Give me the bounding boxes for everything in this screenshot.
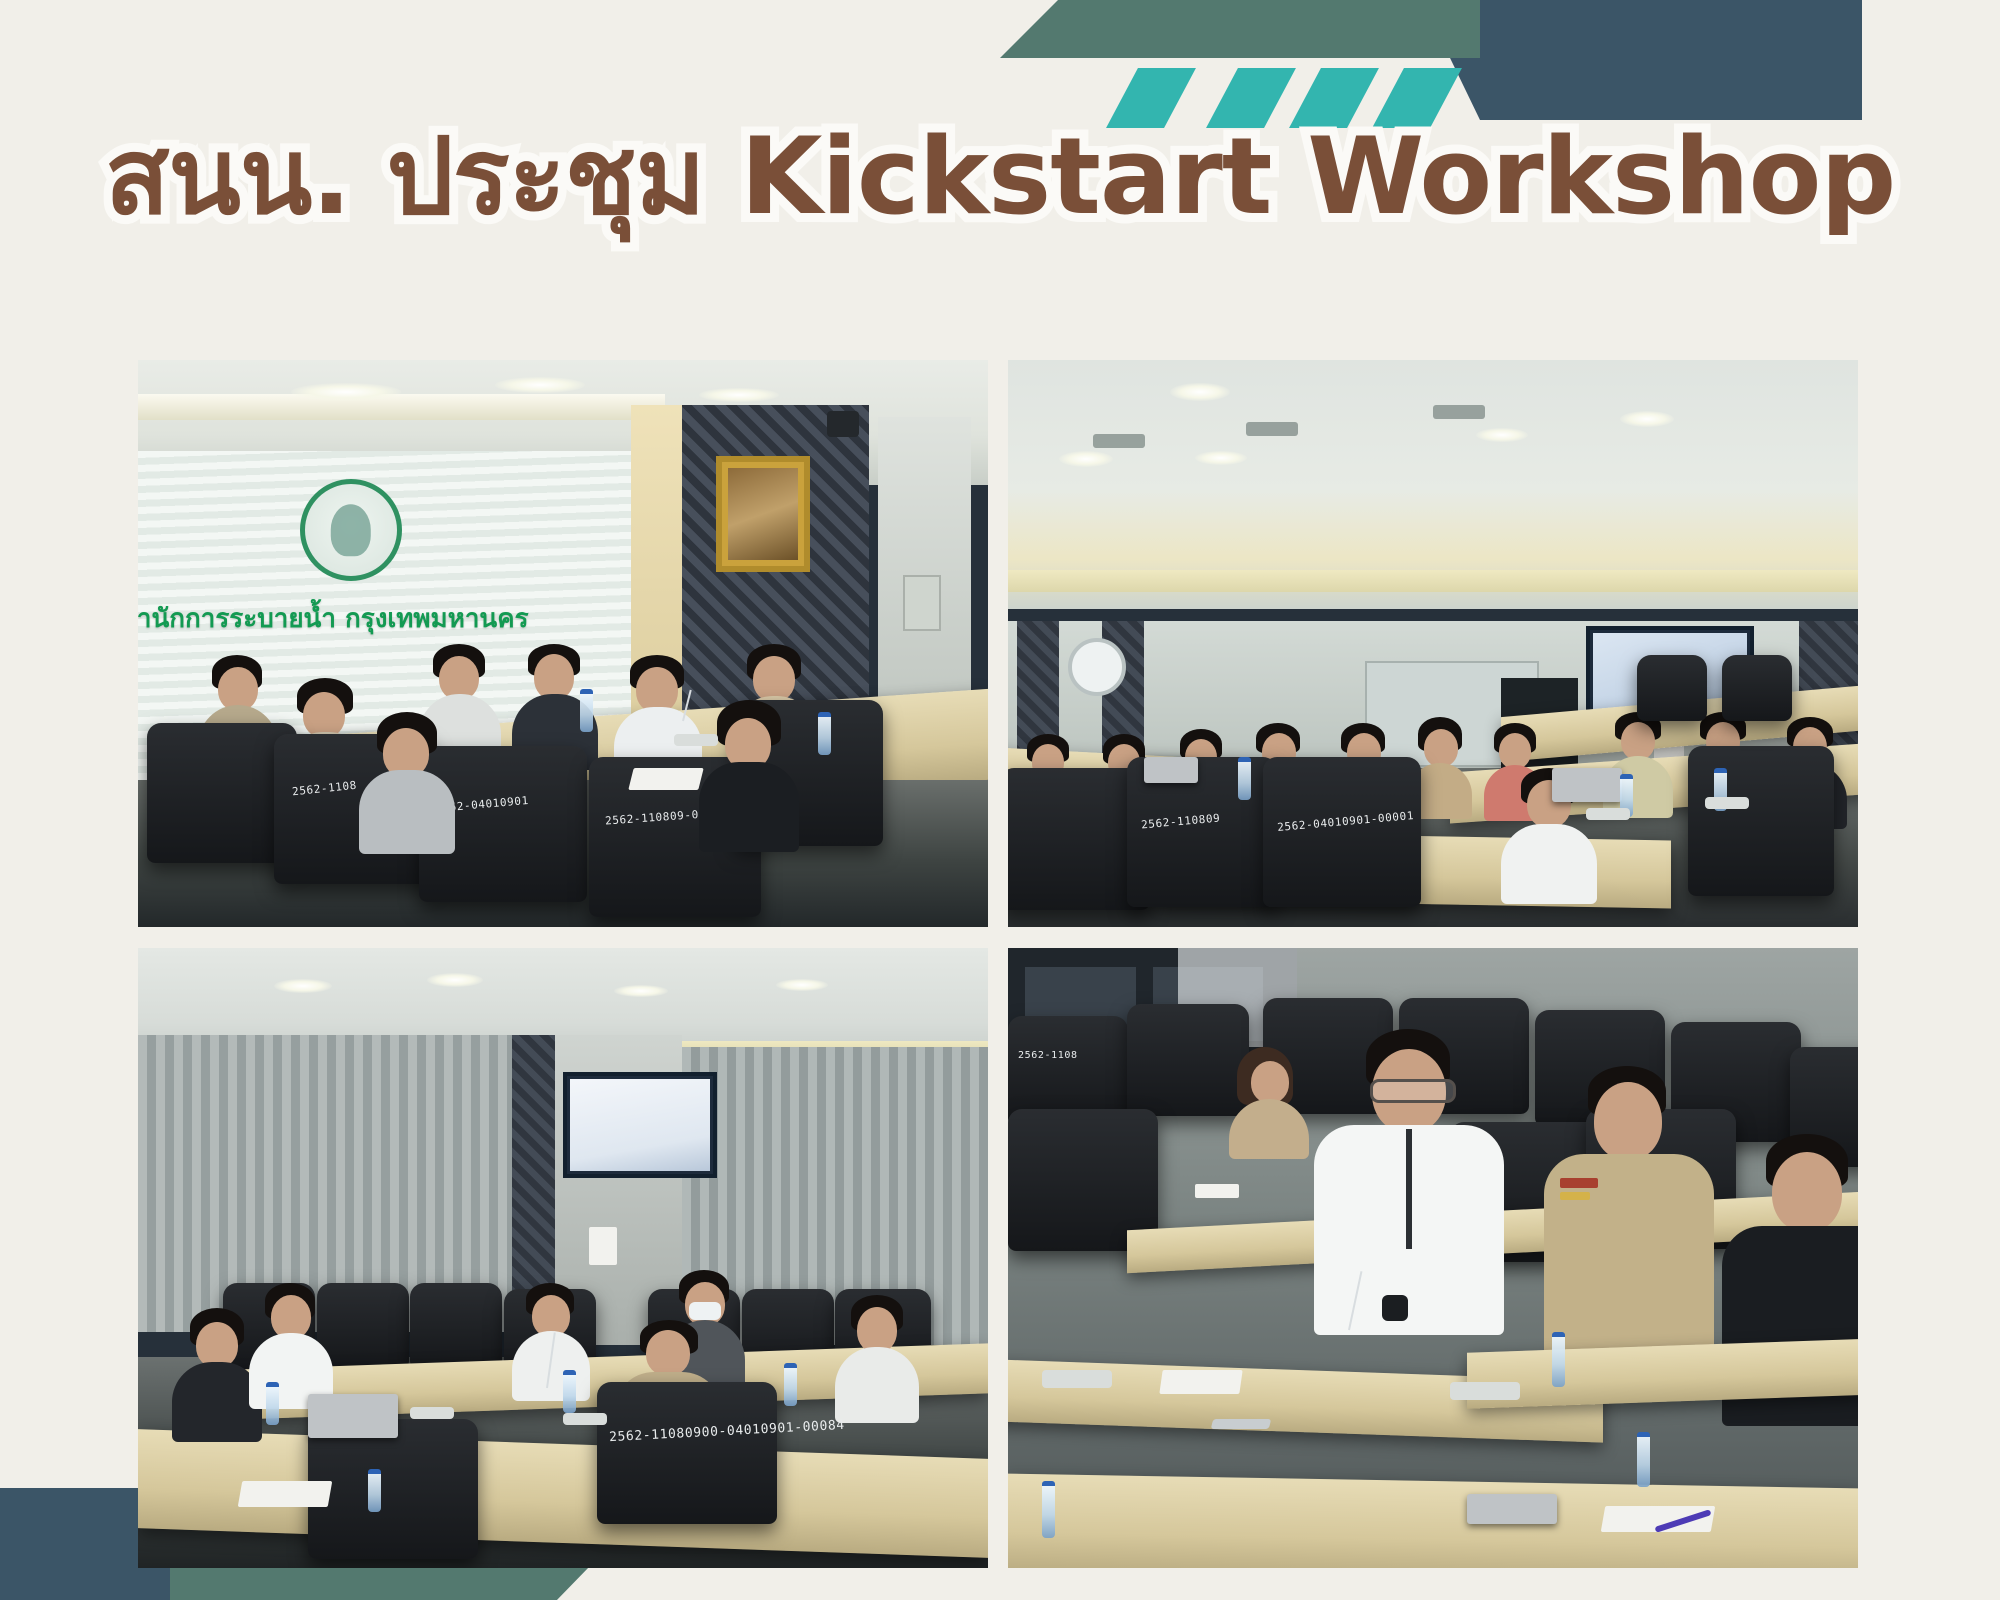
microphone-base <box>674 734 718 746</box>
water-bottle <box>580 689 593 732</box>
microphone-base <box>1586 808 1630 820</box>
water-bottle <box>818 712 831 755</box>
ceiling-light <box>427 973 483 987</box>
ceiling-vent <box>1093 434 1145 448</box>
photo-top-left[interactable]: สำนักการระบายน้ำ กรุงเทพมหานคร <box>138 360 988 927</box>
ceiling-light <box>1195 451 1247 465</box>
attendee-uniform-officer <box>1544 1066 1714 1356</box>
ceiling-soffit <box>138 394 665 420</box>
chair-asset-tag: 2562-1108 <box>291 779 357 799</box>
name-plate <box>1211 1419 1271 1429</box>
office-chair <box>410 1283 502 1369</box>
top-right-slate-block <box>1422 0 1862 120</box>
water-bottle <box>1552 1332 1565 1387</box>
water-bottle <box>1637 1432 1650 1487</box>
microphone-base <box>1705 797 1749 809</box>
water-bottle <box>1238 757 1251 800</box>
attendee <box>512 1283 590 1399</box>
laptop <box>1144 757 1198 783</box>
ceiling-light <box>1170 383 1230 401</box>
water-bottle <box>368 1469 381 1512</box>
ceiling-light <box>274 979 332 993</box>
rank-insignia <box>1560 1192 1590 1200</box>
bma-emblem-icon <box>300 479 402 581</box>
ceiling-light <box>1620 411 1674 427</box>
top-right-sage-trapezoid <box>1000 0 1480 58</box>
office-chair <box>308 1419 478 1559</box>
document <box>1195 1184 1239 1198</box>
poster-canvas: สนน. ประชุม Kickstart Workshop สำนักการร… <box>0 0 2000 1600</box>
display-screen <box>570 1079 710 1171</box>
water-bottle <box>266 1382 279 1425</box>
eyeglasses-icon <box>1370 1079 1456 1103</box>
laptop <box>1552 768 1622 802</box>
presentation-display[interactable] <box>563 1072 717 1178</box>
wall-notice <box>589 1227 617 1265</box>
page-title-wrap: สนน. ประชุม Kickstart Workshop <box>0 118 2000 237</box>
ceiling-light <box>1476 428 1528 442</box>
attendee <box>249 1283 333 1407</box>
tablet-device <box>1467 1494 1557 1524</box>
document <box>628 768 703 790</box>
wristwatch <box>1382 1295 1408 1321</box>
office-chair <box>1722 655 1792 721</box>
document <box>1159 1370 1242 1394</box>
microphone-base <box>410 1407 454 1419</box>
royal-portrait-frame <box>716 456 810 572</box>
face-mask-icon <box>689 1302 721 1320</box>
speaker-icon <box>827 411 859 437</box>
photo-gallery: สำนักการระบายน้ำ กรุงเทพมหานคร <box>138 360 1858 1568</box>
ceiling-light <box>1059 451 1113 467</box>
ceiling-cove-light <box>1008 570 1858 592</box>
chair-asset-tag: 2562-110809 <box>1141 811 1221 831</box>
attendee-foreground <box>699 700 799 850</box>
page-title: สนน. ประชุม Kickstart Workshop <box>105 118 1896 237</box>
microphone-base <box>1450 1382 1520 1400</box>
rank-insignia <box>1560 1178 1598 1188</box>
office-chair <box>1637 655 1707 721</box>
attendee <box>835 1295 919 1419</box>
photo-bottom-left[interactable]: 2562-11080900-04010901-00084 <box>138 948 988 1568</box>
attendee-primary <box>1314 1029 1504 1329</box>
document <box>238 1481 333 1507</box>
conference-table-front <box>1008 1474 1858 1568</box>
ceiling-light <box>291 383 401 401</box>
office-chair: 2562-04010901-00001 <box>1263 757 1421 907</box>
ceiling-light <box>776 979 828 991</box>
microphone-base <box>563 1413 607 1425</box>
chair-asset-tag: 2562-110809-00 <box>604 807 706 827</box>
headset-cable <box>1406 1129 1412 1249</box>
water-bottle <box>784 1363 797 1406</box>
ceiling-light <box>495 377 585 393</box>
attendee-background <box>1229 1047 1309 1157</box>
ceiling-vent <box>1246 422 1298 436</box>
water-bottle <box>563 1370 576 1413</box>
photo-bottom-right[interactable]: 2562-1108 <box>1008 948 1858 1568</box>
ceiling-vent <box>1433 405 1485 419</box>
chair-asset-tag: 2562-1108 <box>1018 1050 1078 1061</box>
office-chair-tagged: 2562-11080900-04010901-00084 <box>597 1382 777 1524</box>
attendee-foreground <box>359 712 455 852</box>
wall-clock-icon <box>1068 638 1126 696</box>
wall-switch-panel <box>903 575 941 631</box>
photo-top-right[interactable]: 2562-110809 2562-04010901-00001 <box>1008 360 1858 927</box>
laptop <box>308 1394 398 1438</box>
bottom-left-sage-trapezoid <box>170 1566 590 1600</box>
wall-sign-text: สำนักการระบายน้ำ กรุงเทพมหานคร <box>138 598 529 639</box>
microphone-base <box>1042 1370 1112 1388</box>
office-chair <box>1688 746 1834 896</box>
water-bottle <box>1042 1481 1055 1538</box>
chair-asset-tag: 2562-04010901-00001 <box>1277 809 1415 834</box>
